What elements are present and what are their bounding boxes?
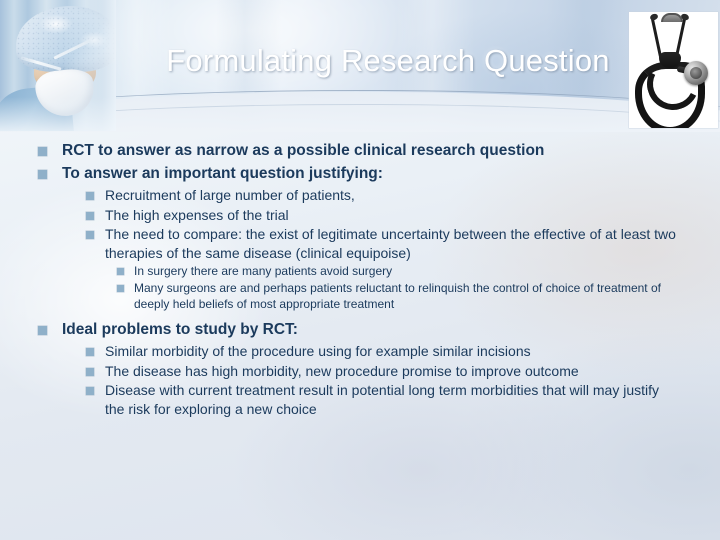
bullet-item: Similar morbidity of the procedure using… <box>0 342 720 361</box>
surgeon-photo-vignette <box>0 0 116 131</box>
bullet-marker-square <box>86 368 94 376</box>
bullet-marker-square <box>86 192 94 200</box>
bullet-text: The high expenses of the trial <box>105 206 680 225</box>
bullet-text: The need to compare: the exist of legiti… <box>105 225 680 262</box>
bullet-text: Ideal problems to study by RCT: <box>62 319 672 340</box>
bullet-item: Ideal problems to study by RCT: <box>0 319 720 340</box>
bullet-marker-square <box>86 387 94 395</box>
bullet-text: To answer an important question justifyi… <box>62 163 672 184</box>
stethoscope-spring-bridge <box>661 13 683 22</box>
bullet-item: The high expenses of the trial <box>0 206 720 225</box>
bullet-item: In surgery there are many patients avoid… <box>0 263 720 279</box>
bullet-marker-square <box>86 212 94 220</box>
bullet-marker-square <box>38 170 47 179</box>
bullet-text: Recruitment of large number of patients, <box>105 186 680 205</box>
bullet-marker-square <box>38 147 47 156</box>
bullet-marker-square <box>117 268 124 275</box>
bullet-text: Disease with current treatment result in… <box>105 381 680 418</box>
bullet-item: The disease has high morbidity, new proc… <box>0 362 720 381</box>
bullet-marker-square <box>86 348 94 356</box>
bullet-item: Many surgeons are and perhaps patients r… <box>0 280 720 312</box>
bullet-item: Disease with current treatment result in… <box>0 381 720 418</box>
stethoscope-binaural-left <box>651 18 662 58</box>
bullet-text: Many surgeons are and perhaps patients r… <box>134 280 679 312</box>
bullet-text: The disease has high morbidity, new proc… <box>105 362 680 381</box>
stethoscope-eartip-left <box>649 13 659 21</box>
bullet-marker-square <box>117 285 124 292</box>
bullet-text: RCT to answer as narrow as a possible cl… <box>62 140 672 161</box>
bullet-text: In surgery there are many patients avoid… <box>134 263 679 279</box>
bullet-item: Recruitment of large number of patients, <box>0 186 720 205</box>
bullet-text: Similar morbidity of the procedure using… <box>105 342 680 361</box>
bullet-item: RCT to answer as narrow as a possible cl… <box>0 140 720 161</box>
bullet-marker-square <box>38 326 47 335</box>
surgeon-photo <box>0 0 116 131</box>
presentation-slide: Formulating Research Question RCT to ans… <box>0 0 720 540</box>
stethoscope-chestpiece-diaphragm <box>690 67 702 79</box>
bullet-item: The need to compare: the exist of legiti… <box>0 225 720 262</box>
slide-title: Formulating Research Question <box>128 38 648 84</box>
slide-body-content: RCT to answer as narrow as a possible cl… <box>0 140 720 540</box>
bullet-marker-square <box>86 231 94 239</box>
bullet-item: To answer an important question justifyi… <box>0 163 720 184</box>
